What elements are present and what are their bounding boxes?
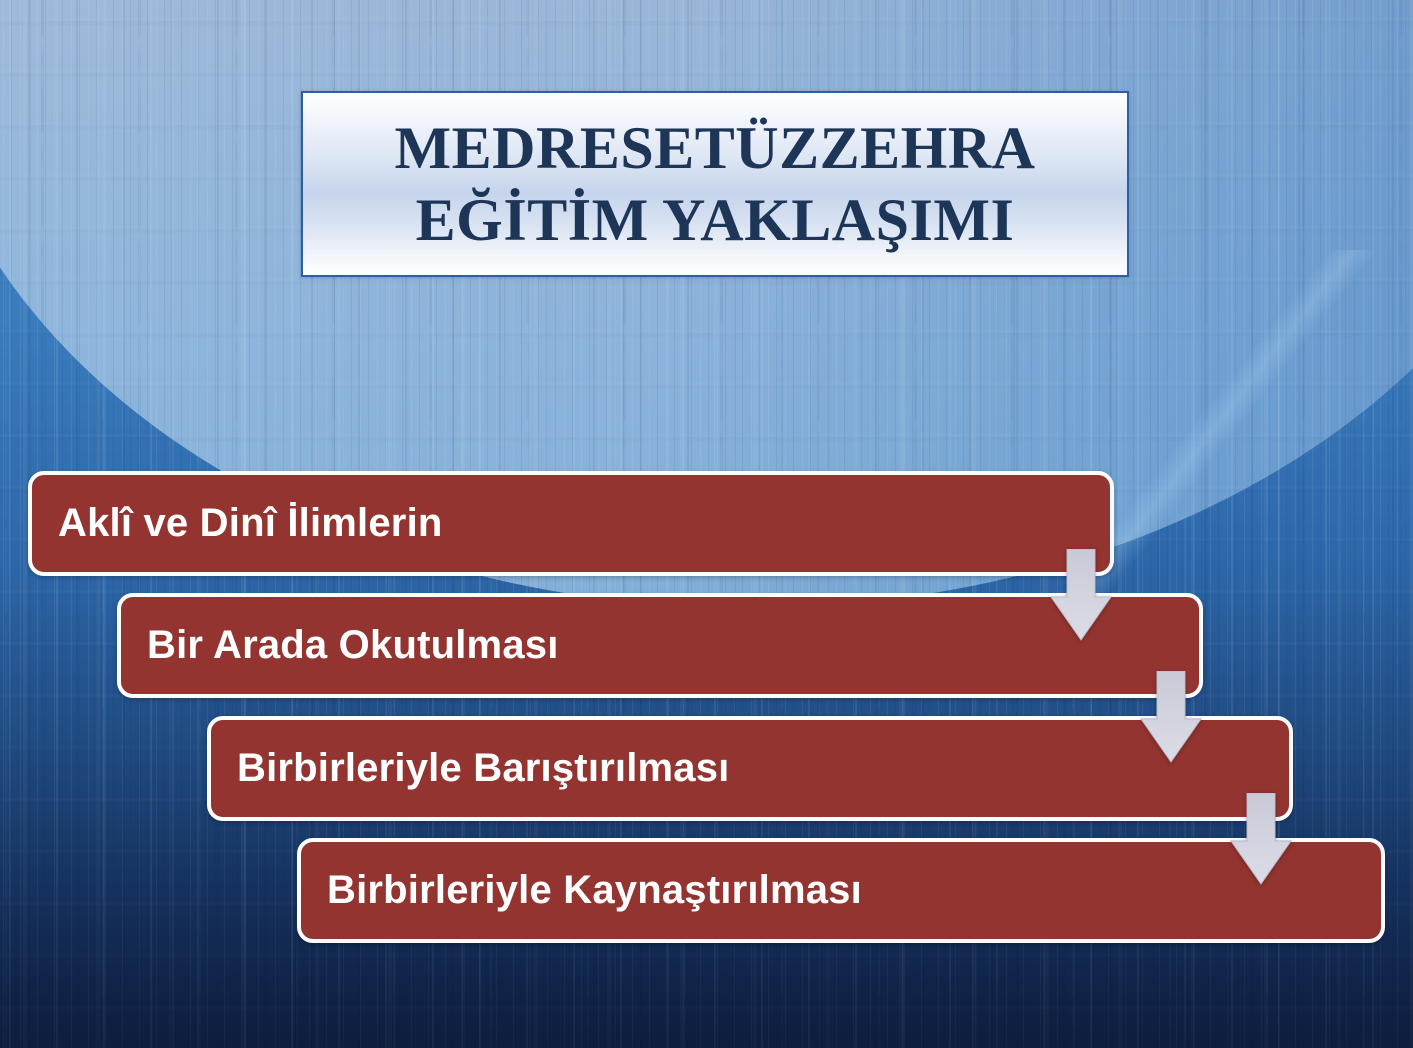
slide-title-line-2: EĞİTİM YAKLAŞIMI [416, 190, 1015, 250]
step-bar-1-label: Aklî ve Dinî İlimlerin [32, 501, 443, 546]
step-bar-3-label: Birbirleriyle Barıştırılması [211, 746, 730, 791]
slide-title-line-1: MEDRESETÜZZEHRA [395, 118, 1036, 178]
slide-canvas: MEDRESETÜZZEHRA EĞİTİM YAKLAŞIMI Aklî ve… [0, 0, 1413, 1048]
step-bar-4: Birbirleriyle Kaynaştırılması [297, 838, 1385, 943]
arrow-down-icon [1140, 671, 1202, 763]
step-bar-2: Bir Arada Okutulması [117, 593, 1203, 698]
slide-title-box: MEDRESETÜZZEHRA EĞİTİM YAKLAŞIMI [301, 91, 1129, 277]
arrow-down-icon [1050, 549, 1112, 641]
step-bar-4-label: Birbirleriyle Kaynaştırılması [301, 868, 862, 913]
arrow-down-icon [1230, 793, 1292, 885]
step-bar-2-label: Bir Arada Okutulması [121, 623, 559, 668]
step-bar-3: Birbirleriyle Barıştırılması [207, 716, 1293, 821]
step-bar-1: Aklî ve Dinî İlimlerin [28, 471, 1114, 576]
